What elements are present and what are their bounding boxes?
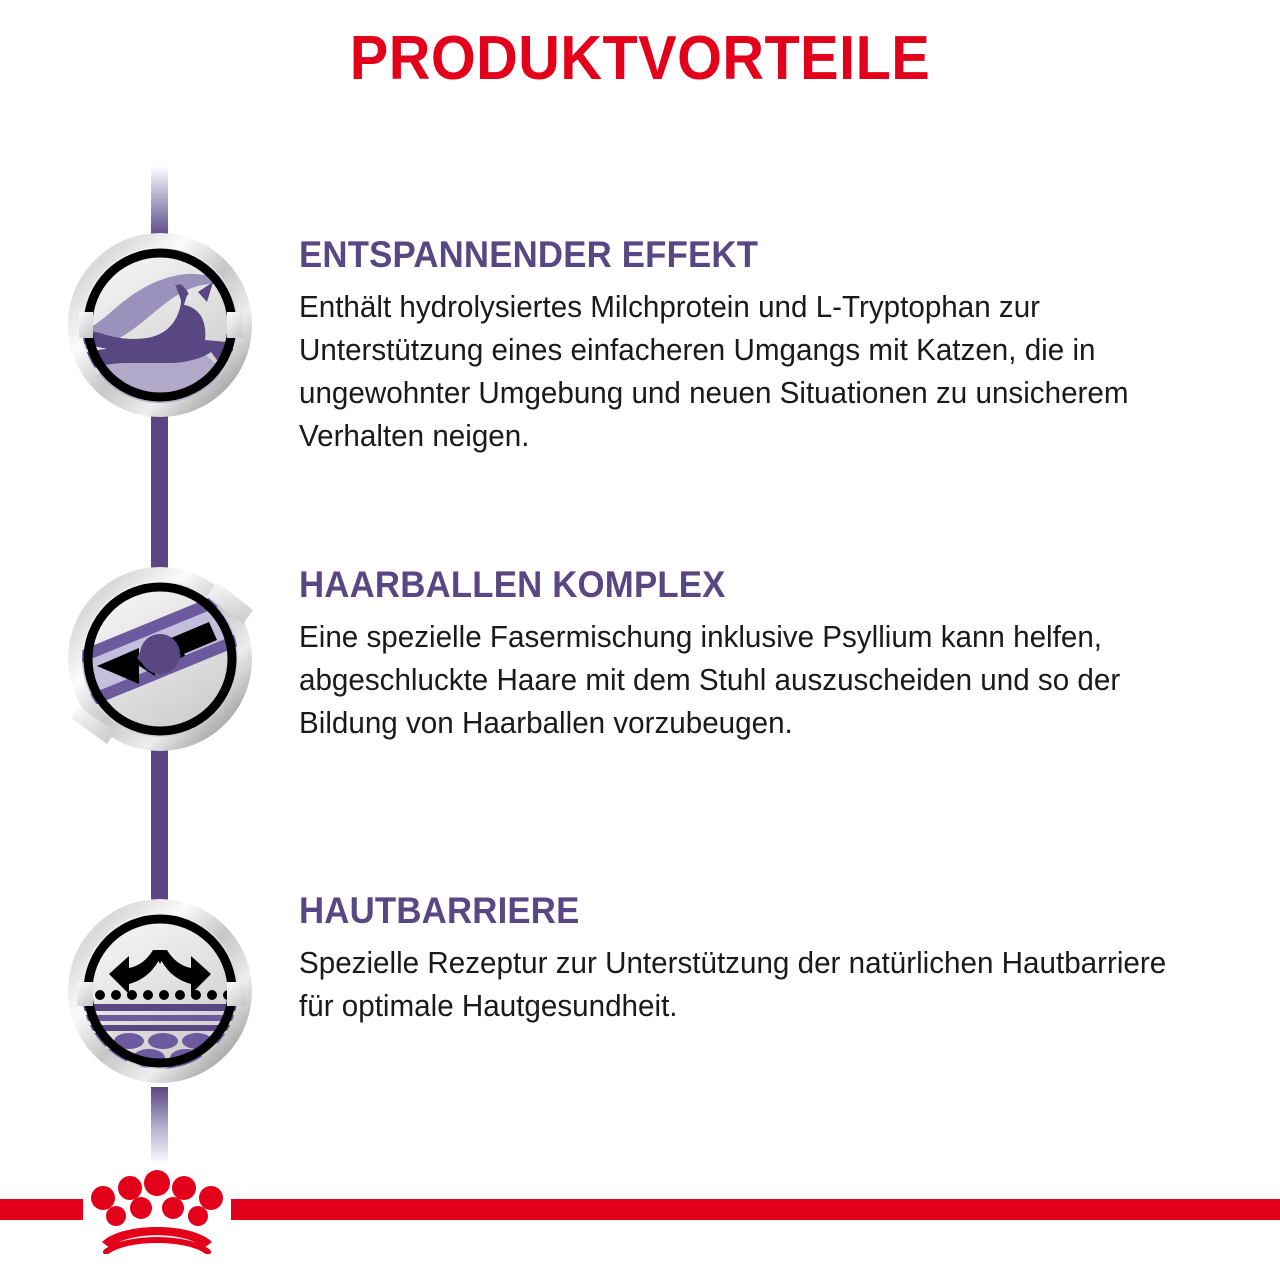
royal-canin-crown-logo [84,1168,230,1254]
connector-line-bottom [151,1087,168,1165]
benefit-text-block: HAUTBARRIERE Spezielle Rezeptur zur Unte… [299,892,1229,1027]
benefit-heading: HAUTBARRIERE [299,892,1173,929]
page-title: PRODUKTVORTEILE [45,26,1235,91]
benefit-body: Enthält hydrolysiertes Milchprotein und … [299,285,1187,457]
benefit-text-block: ENTSPANNENDER EFFEKT Enthält hydrolysier… [299,236,1229,457]
connector-line-top [151,166,168,238]
footer-bar-left [0,1199,83,1220]
connector-line-1 [151,416,168,576]
hairball-complex-icon [67,566,253,752]
benefit-text-block: HAARBALLEN KOMPLEX Eine spezielle Faserm… [299,566,1229,744]
benefit-heading: HAARBALLEN KOMPLEX [299,566,1173,603]
benefit-body: Eine spezielle Fasermischung inklusive P… [299,615,1187,744]
connector-line-2 [151,750,168,908]
footer-bar-right [231,1199,1280,1220]
benefit-body: Spezielle Rezeptur zur Unterstützung der… [299,941,1187,1027]
relaxed-cat-icon [67,232,253,418]
footer [0,1160,1280,1280]
skin-barrier-icon [67,898,253,1084]
benefit-heading: ENTSPANNENDER EFFEKT [299,236,1173,273]
